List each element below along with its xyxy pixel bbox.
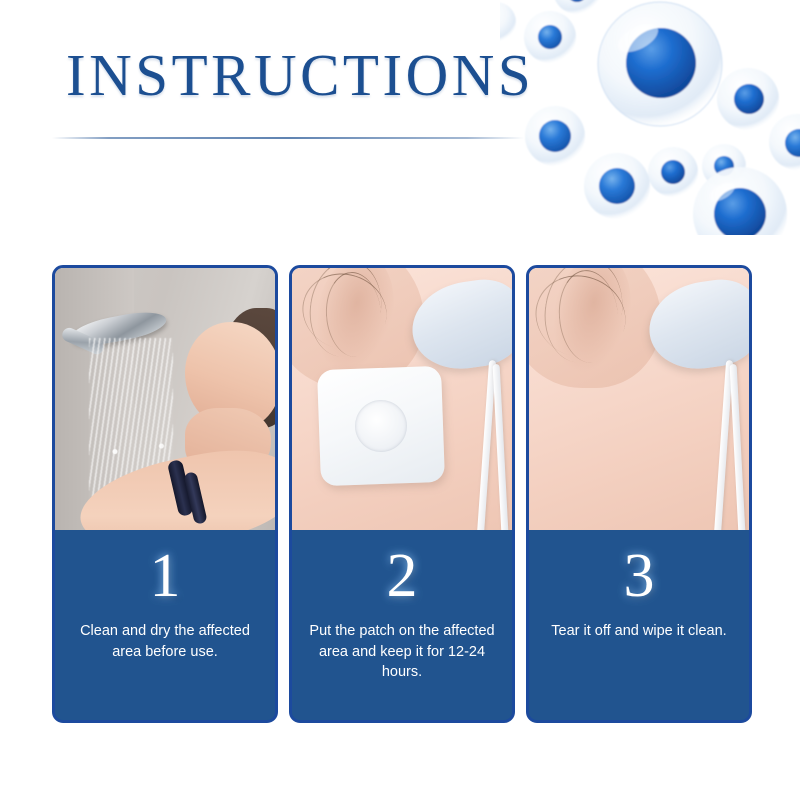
instruction-card-3[interactable]: 3 Tear it off and wipe it clean. — [526, 265, 752, 723]
photo-shower-rinse — [55, 268, 275, 530]
page-header: INSTRUCTIONS — [0, 0, 540, 145]
card-body-2: 2 Put the patch on the affected area and… — [292, 530, 512, 720]
card-body-1: 1 Clean and dry the affected area before… — [55, 530, 275, 720]
page-title: INSTRUCTIONS — [66, 46, 534, 105]
instruction-card-1[interactable]: 1 Clean and dry the affected area before… — [52, 265, 278, 723]
step-number-3: 3 — [624, 544, 655, 609]
step-text-1: Clean and dry the affected area before u… — [55, 621, 275, 662]
instruction-steps-row: 1 Clean and dry the affected area before… — [52, 265, 752, 725]
card-body-3: 3 Tear it off and wipe it clean. — [529, 530, 749, 720]
photo-skin-clean — [529, 268, 749, 530]
title-divider — [52, 137, 524, 139]
photo-patch-applied — [292, 268, 512, 530]
bubble-cluster-svg — [500, 0, 800, 235]
step-text-3: Tear it off and wipe it clean. — [540, 621, 737, 642]
step-number-1: 1 — [150, 544, 181, 609]
cell-bubble-cluster — [500, 0, 800, 235]
instruction-card-2[interactable]: 2 Put the patch on the affected area and… — [289, 265, 515, 723]
step-number-2: 2 — [387, 544, 418, 609]
treatment-patch — [317, 366, 445, 486]
step-text-2: Put the patch on the affected area and k… — [292, 621, 512, 683]
